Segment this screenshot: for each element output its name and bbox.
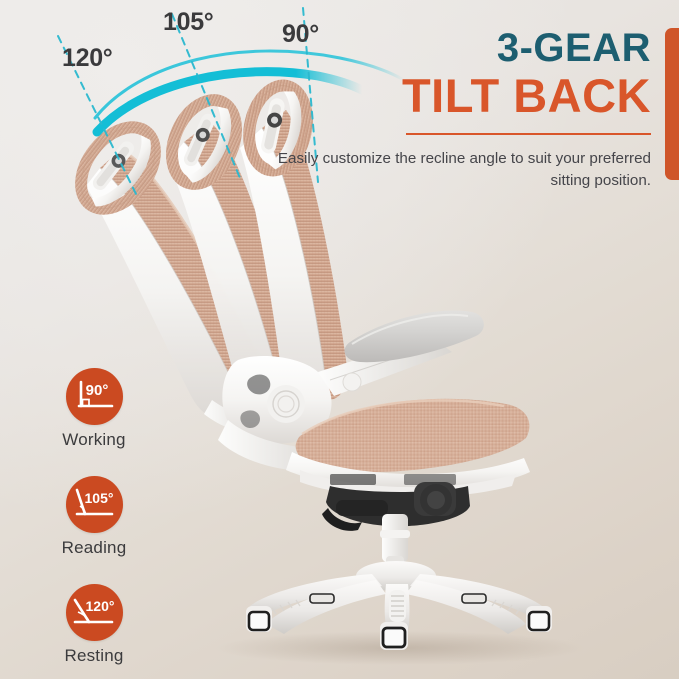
feature-badge-reading[interactable]: 105° Reading bbox=[38, 476, 150, 558]
angle-105-icon: 105° bbox=[66, 476, 123, 533]
badge-circle-105: 105° bbox=[66, 476, 123, 533]
angle-90-icon: 90° bbox=[66, 368, 123, 425]
accent-bar bbox=[665, 28, 679, 180]
badge-circle-120: 120° bbox=[66, 584, 123, 641]
feature-badge-resting[interactable]: 120° Resting bbox=[38, 584, 150, 666]
headline-block: 3-GEAR TILT BACK Easily customize the re… bbox=[271, 28, 651, 192]
product-feature-banner: 120° 105° 90° 3-GEAR TILT BACK Easily cu… bbox=[0, 0, 679, 679]
headline-eyebrow: 3-GEAR bbox=[271, 28, 651, 69]
svg-text:105°: 105° bbox=[84, 490, 113, 506]
badge-circle-90: 90° bbox=[66, 368, 123, 425]
angle-label-105: 105° bbox=[163, 8, 214, 37]
svg-text:120°: 120° bbox=[85, 598, 114, 614]
angle-label-120: 120° bbox=[62, 44, 113, 73]
badge-label-reading: Reading bbox=[38, 538, 150, 558]
feature-badge-list: 90° Working 105° Reading bbox=[38, 368, 150, 666]
angle-120-icon: 120° bbox=[66, 584, 123, 641]
headline-subtitle: Easily customize the recline angle to su… bbox=[271, 148, 651, 192]
badge-label-working: Working bbox=[38, 430, 150, 450]
feature-badge-working[interactable]: 90° Working bbox=[38, 368, 150, 450]
svg-text:90°: 90° bbox=[85, 382, 108, 399]
badge-label-resting: Resting bbox=[38, 646, 150, 666]
page-title: TILT BACK bbox=[271, 71, 651, 122]
headline-divider bbox=[406, 133, 651, 135]
